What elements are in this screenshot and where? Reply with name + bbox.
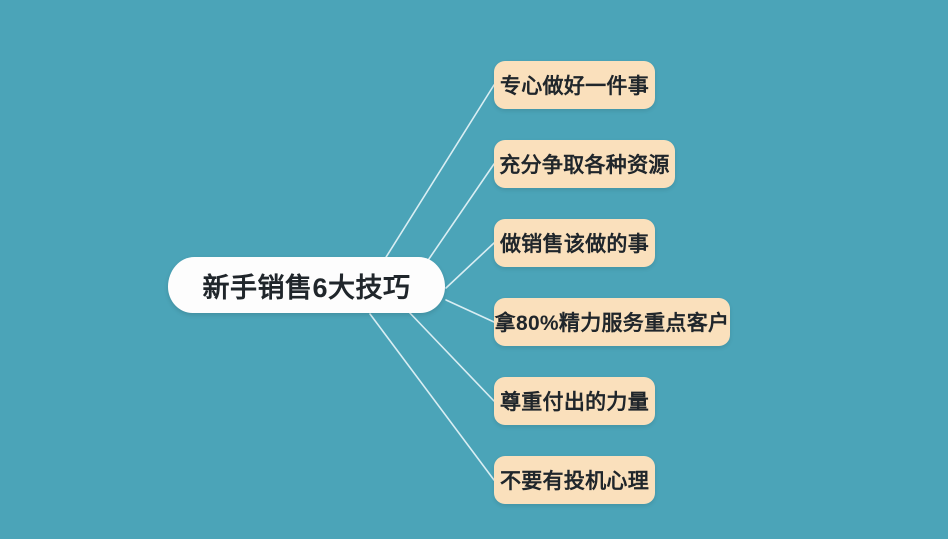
branch-node-3[interactable]: 做销售该做的事 bbox=[494, 219, 655, 267]
branch-node-1-label: 专心做好一件事 bbox=[500, 70, 649, 100]
branch-node-2-label: 充分争取各种资源 bbox=[499, 149, 669, 179]
connector-3 bbox=[446, 243, 494, 288]
center-node[interactable]: 新手销售6大技巧 bbox=[168, 257, 445, 313]
branch-node-6[interactable]: 不要有投机心理 bbox=[494, 456, 655, 504]
branch-node-2[interactable]: 充分争取各种资源 bbox=[494, 140, 675, 188]
branch-node-5[interactable]: 尊重付出的力量 bbox=[494, 377, 655, 425]
branch-node-1[interactable]: 专心做好一件事 bbox=[494, 61, 655, 109]
branch-node-3-label: 做销售该做的事 bbox=[500, 228, 649, 258]
center-node-label: 新手销售6大技巧 bbox=[202, 266, 410, 305]
mindmap-canvas: 新手销售6大技巧 专心做好一件事 充分争取各种资源 做销售该做的事 拿80%精力… bbox=[0, 0, 948, 539]
connector-5 bbox=[408, 311, 494, 401]
connector-1 bbox=[383, 85, 494, 262]
connector-4 bbox=[446, 300, 494, 322]
branch-node-4-label: 拿80%精力服务重点客户 bbox=[495, 307, 730, 337]
connector-2 bbox=[420, 164, 494, 272]
branch-node-4[interactable]: 拿80%精力服务重点客户 bbox=[494, 298, 730, 346]
connector-6 bbox=[370, 314, 494, 480]
connector-layer bbox=[0, 0, 948, 539]
branch-node-5-label: 尊重付出的力量 bbox=[500, 386, 649, 416]
branch-node-6-label: 不要有投机心理 bbox=[500, 465, 649, 495]
